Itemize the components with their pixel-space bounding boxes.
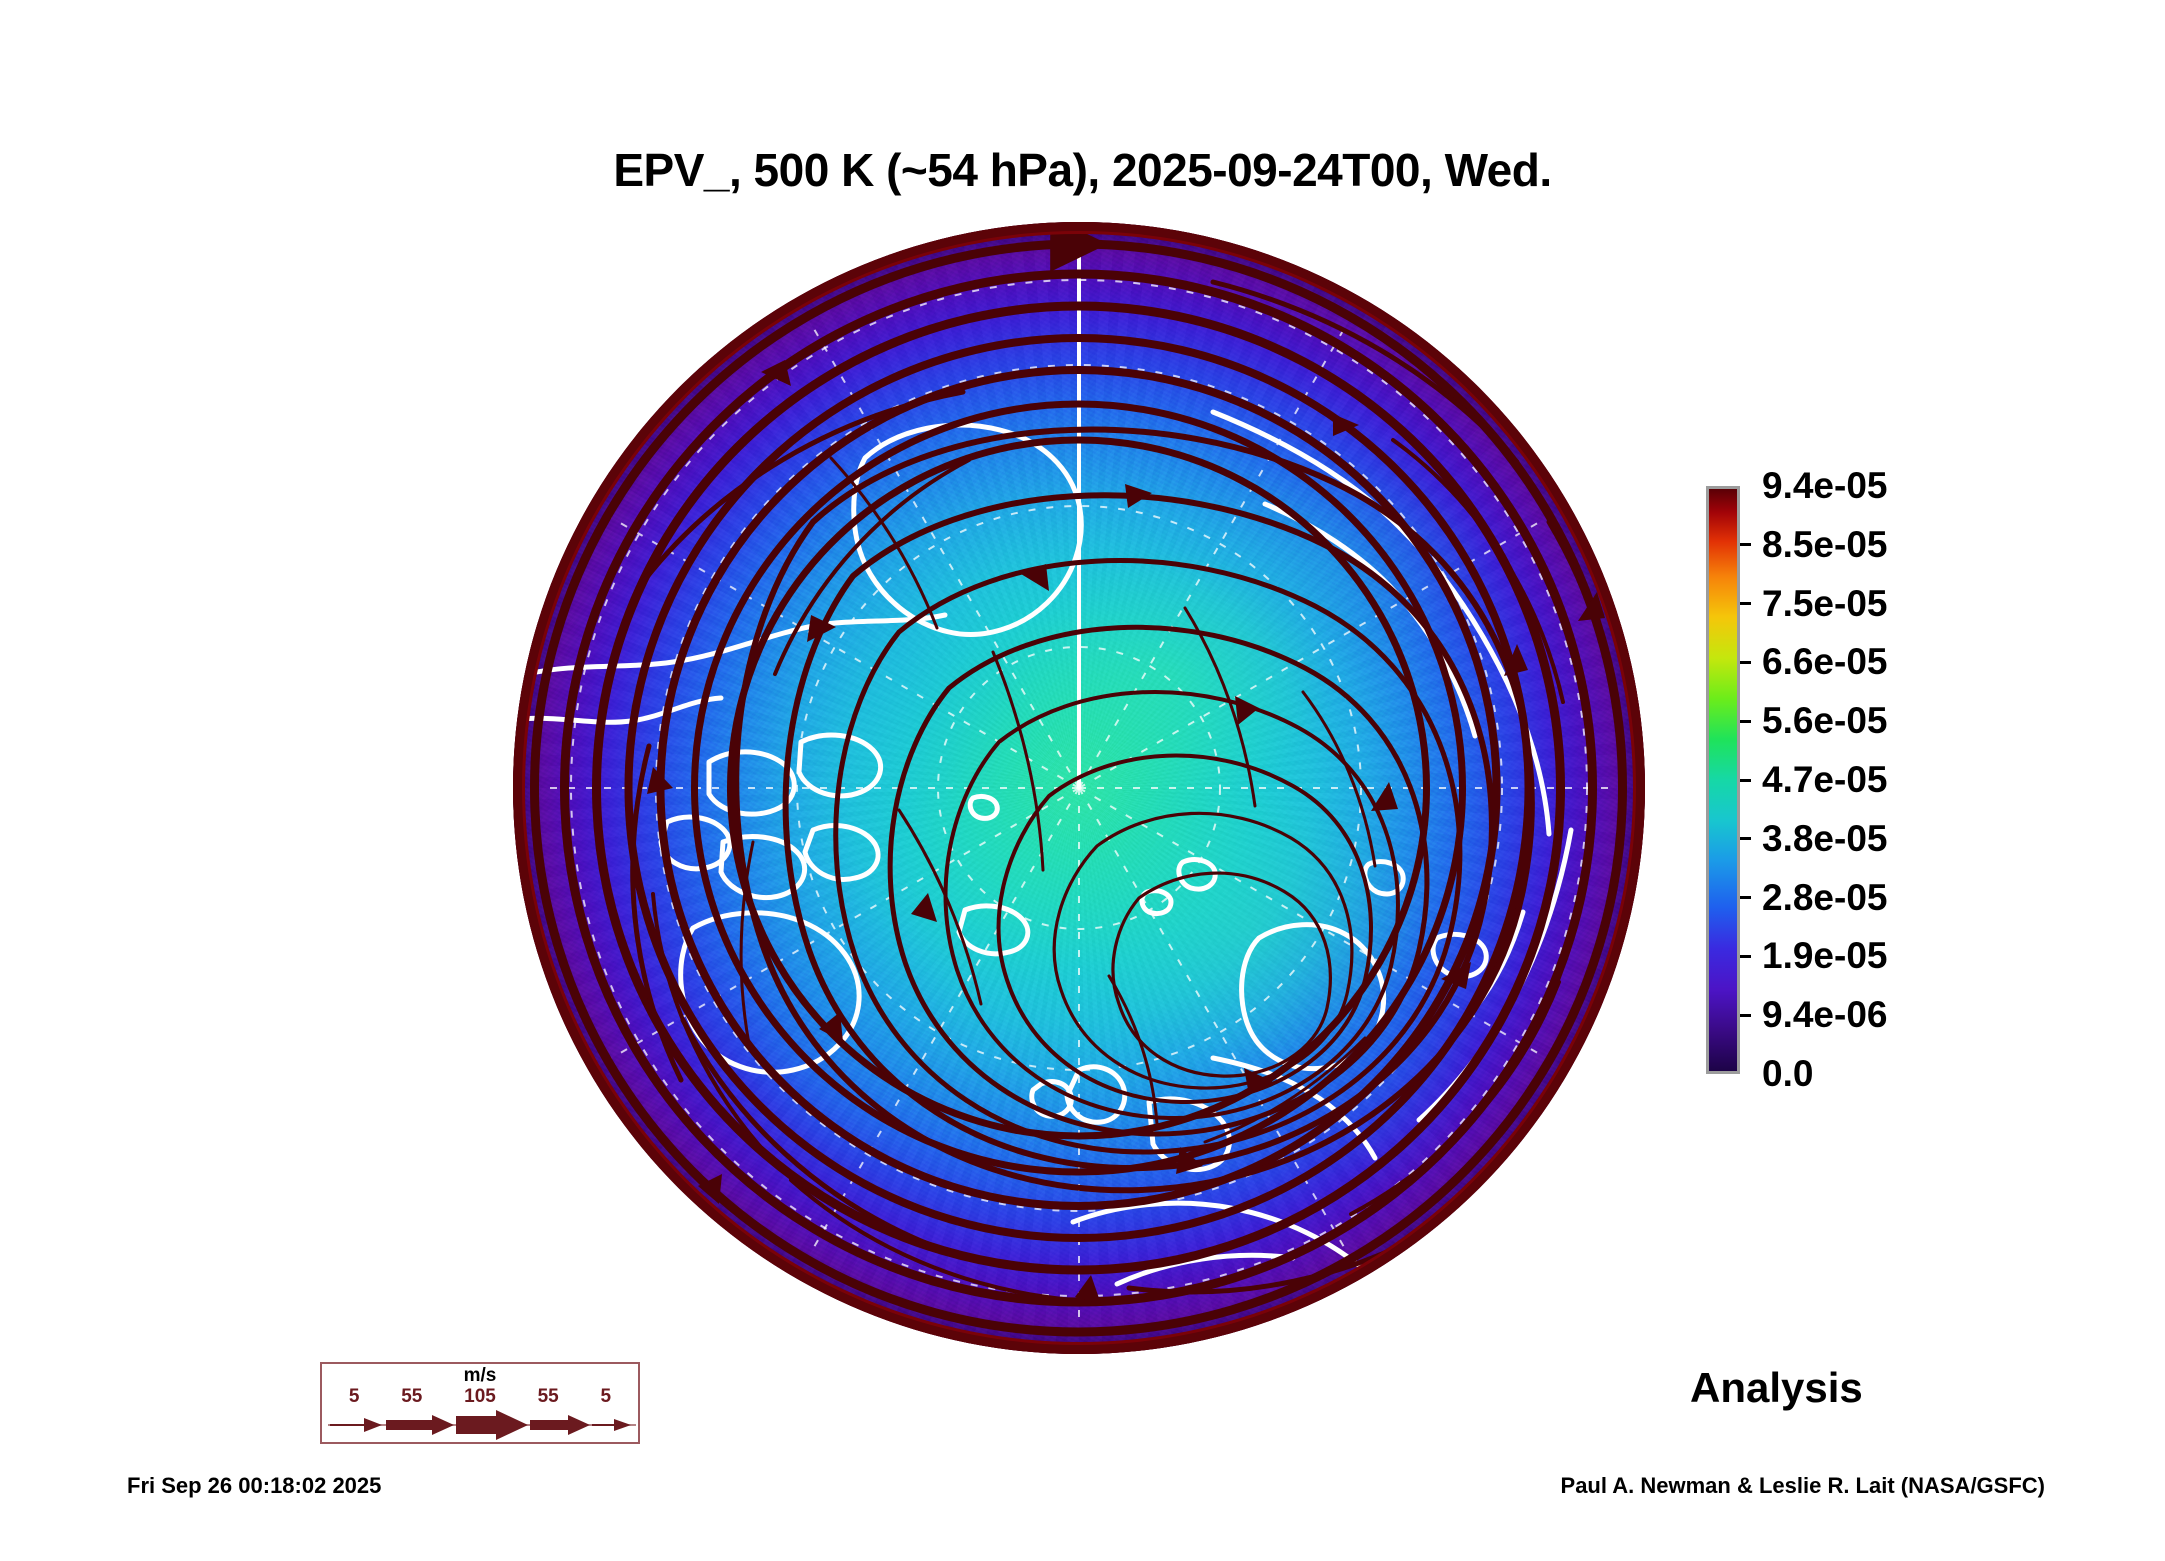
page-title: EPV_, 500 K (~54 hPa), 2025-09-24T00, We… [0,143,2165,197]
colorbar-ticks [1740,486,1754,1074]
analysis-label: Analysis [1690,1364,1863,1412]
wind-value-label: 55 [401,1386,422,1408]
colorbar-tick [1740,661,1751,664]
colorbar-tick-label: 7.5e-05 [1762,583,1888,625]
generation-timestamp: Fri Sep 26 00:18:02 2025 [127,1473,381,1499]
wind-value-labels: 555105555 [322,1386,638,1408]
wind-value-label: 55 [538,1386,559,1408]
colorbar [1706,486,1740,1074]
colorbar-tick-label: 1.9e-05 [1762,935,1888,977]
wind-value-label: 105 [464,1386,496,1408]
colorbar-tick [1740,543,1751,546]
map-overlays [513,222,1645,1354]
wind-value-label: 5 [601,1386,612,1408]
colorbar-tick-label: 8.5e-05 [1762,524,1888,566]
wind-units-label: m/s [322,1365,638,1387]
colorbar-labels: 9.4e-058.5e-057.5e-056.6e-055.6e-054.7e-… [1762,486,1992,1074]
colorbar-tick-label: 2.8e-05 [1762,877,1888,919]
colorbar-tick [1740,720,1751,723]
colorbar-tick [1740,955,1751,958]
credits-label: Paul A. Newman & Leslie R. Lait (NASA/GS… [1561,1473,2045,1499]
colorbar-tick-label: 9.4e-06 [1762,994,1888,1036]
colorbar-tick [1740,837,1751,840]
wind-arrow-scale [328,1410,636,1440]
colorbar-tick-label: 5.6e-05 [1762,700,1888,742]
colorbar-tick-label: 3.8e-05 [1762,818,1888,860]
colorbar-tick [1740,896,1751,899]
colorbar-tick-label: 4.7e-05 [1762,759,1888,801]
polar-map [513,222,1645,1354]
colorbar-tick [1740,602,1751,605]
colorbar-gradient [1706,486,1740,1074]
colorbar-tick-label: 9.4e-05 [1762,465,1888,507]
colorbar-tick [1740,1014,1751,1017]
colorbar-tick [1740,779,1751,782]
colorbar-tick-label: 0.0 [1762,1053,1813,1095]
wind-value-label: 5 [349,1386,360,1408]
colorbar-tick-label: 6.6e-05 [1762,641,1888,683]
wind-speed-legend: m/s 555105555 [320,1362,640,1444]
